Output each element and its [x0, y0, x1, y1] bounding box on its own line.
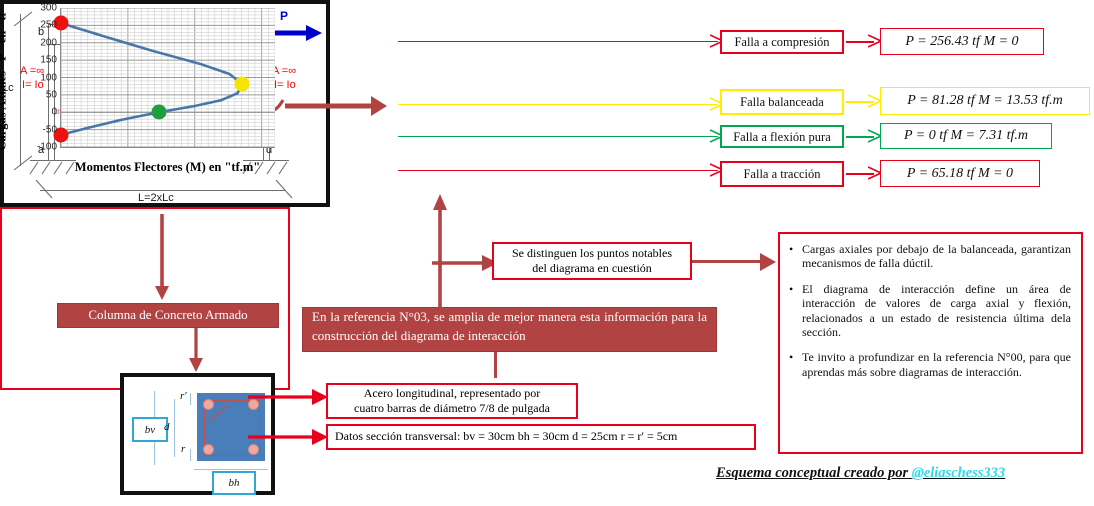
- conclusion-item-3: Te invito a profundizar en la referencia…: [802, 350, 1071, 379]
- reference-banner: En la referencia N°03, se amplia de mejo…: [302, 307, 717, 352]
- steel-note-line2: cuatro barras de diámetro 7/8 de pulgada: [354, 401, 550, 416]
- failure-value-traccion: P = 65.18 tf M = 0: [880, 160, 1040, 187]
- frame-span-label: L=2xLc: [138, 192, 174, 204]
- dim-r-bottom-line: [190, 449, 191, 461]
- span-dim-tick-right: [272, 178, 298, 200]
- dim-r-bottom-label: r: [181, 443, 185, 455]
- chart-y-tick: 0: [51, 107, 57, 118]
- banner-to-chart-connector: [430, 192, 450, 310]
- conclusion-item-1: Cargas axiales por debajo de la balancea…: [802, 242, 1071, 271]
- chart-y-tick: 50: [46, 89, 57, 100]
- conclusions-list: Cargas axiales por debajo de la balancea…: [786, 242, 1071, 379]
- arrowhead-bullets-icon: [760, 253, 778, 271]
- right-column-inertia-label: I= Io: [274, 79, 296, 91]
- height-dim-tick-top: [10, 8, 38, 28]
- load-arrow-icon: [266, 24, 326, 42]
- height-dim-tick-bottom: [10, 152, 38, 172]
- load-label-P: P: [280, 9, 288, 23]
- section-to-data-note-connector: [248, 428, 330, 446]
- span-dim-line: [40, 190, 285, 191]
- chart-y-tick: 150: [40, 55, 57, 66]
- chart-y-tick: 200: [40, 37, 57, 48]
- dim-r-top-label: r′: [180, 390, 187, 402]
- dim-d-line: [174, 399, 175, 457]
- failure-value-compresion: P = 256.43 tf M = 0: [880, 28, 1044, 55]
- height-dim-line: [20, 14, 21, 166]
- guide-line-compresion: [398, 41, 718, 42]
- chart-y-tick: 300: [40, 3, 57, 14]
- section-data-box: Datos sección transversal: bv = 30cm bh …: [326, 424, 756, 450]
- guide-line-balanceada: [398, 104, 718, 105]
- steel-note-box: Acero longitudinal, representado por cua…: [326, 383, 578, 419]
- signature-text: Esquema conceptual creado por: [716, 465, 912, 481]
- signature: Esquema conceptual creado por @eliasches…: [716, 465, 1005, 482]
- chart-y-tick: -100: [37, 142, 57, 153]
- chart-plot-area: -100-5005010015020025030051015: [60, 8, 275, 148]
- chart-y-tick: 250: [40, 20, 57, 31]
- dim-bh-label: bh: [212, 471, 256, 495]
- failure-value-flexion: P = 0 tf M = 7.31 tf.m: [880, 123, 1052, 149]
- failure-label-traccion: Falla a tracción: [720, 161, 844, 187]
- section-to-steel-note-connector: [248, 388, 330, 406]
- failure-label-flexion: Falla a flexión pura: [720, 125, 844, 148]
- notable-points-line1: Se distinguen los puntos notables: [512, 246, 672, 261]
- guide-line-traccion: [398, 170, 718, 171]
- dim-bv-label: bv: [132, 417, 168, 442]
- failure-value-balanceada: P = 81.28 tf M = 13.53 tf.m: [880, 87, 1090, 115]
- conclusions-box: Cargas axiales por debajo de la balancea…: [778, 232, 1083, 454]
- guide-line-flexion: [398, 136, 718, 137]
- chart-y-axis-label: Cargas Axiales "P" en "tf": [0, 5, 10, 150]
- rebar-pointer-icon: [208, 403, 234, 425]
- notable-points-line2: del diagrama en cuestión: [532, 261, 652, 276]
- right-column-area-label: A =∞: [272, 65, 296, 77]
- rebar-bottom-left: [203, 444, 214, 455]
- chart-x-axis-label: Momentos Flectores (M) en "tf.m": [60, 160, 275, 175]
- interaction-diagram-chart: Cargas Axiales "P" en "tf" -100-50050100…: [0, 207, 290, 390]
- notable-points-box: Se distinguen los puntos notables del di…: [492, 242, 692, 280]
- frame-to-column-title-connector: [154, 214, 170, 302]
- dim-d-label: d: [164, 421, 170, 433]
- banner-down-stub: [494, 352, 497, 378]
- steel-note-line1: Acero longitudinal, representado por: [364, 386, 541, 401]
- signature-handle: @eliaschess333: [912, 465, 1005, 481]
- failure-label-balanceada: Falla balanceada: [720, 89, 844, 115]
- dim-r-top-line: [190, 393, 191, 405]
- chart-y-tick: 100: [40, 72, 57, 83]
- span-dim-tick-left: [32, 178, 58, 200]
- chart-marker-falla-flexion-pura: [151, 105, 166, 120]
- failure-label-compresion: Falla a compresión: [720, 30, 844, 54]
- column-title-to-section-connector: [188, 328, 204, 374]
- connector-to-notable-points: [432, 254, 498, 272]
- chart-marker-falla-balanceada: [234, 77, 249, 92]
- chart-y-tick: -50: [43, 124, 57, 135]
- notable-to-bullets-line: [692, 260, 764, 263]
- column-title-box: Columna de Concreto Armado: [57, 303, 279, 328]
- conclusion-item-2: El diagrama de interacción define un áre…: [802, 282, 1071, 340]
